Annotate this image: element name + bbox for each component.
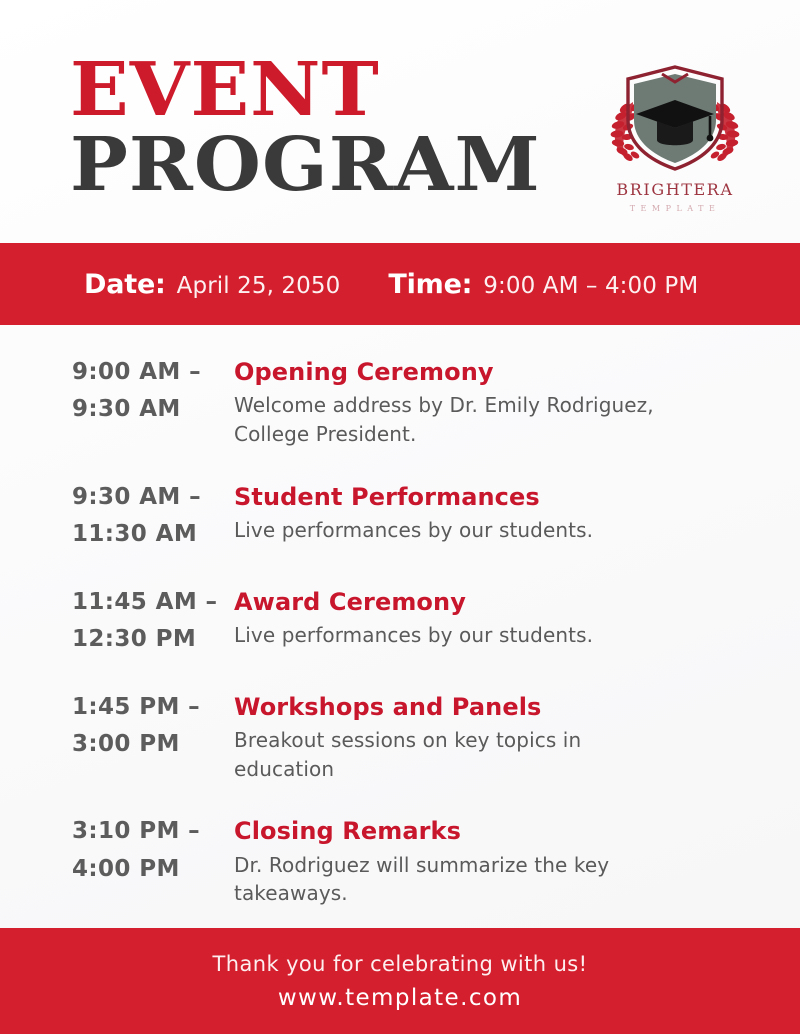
schedule-item-time: 3:10 PM – 4:00 PM <box>72 813 234 908</box>
brand-logo: BRIGHTERA TEMPLATE <box>600 62 750 222</box>
schedule-item: 9:30 AM – 11:30 AM Student Performances … <box>0 479 800 554</box>
event-program-poster: EVENT PROGRAM <box>0 0 800 1034</box>
schedule-item-body: Opening Ceremony Welcome address by Dr. … <box>234 354 740 449</box>
schedule-item-description: Live performances by our students. <box>234 516 654 545</box>
schedule-item-description: Breakout sessions on key topics in educa… <box>234 726 654 783</box>
schedule-item-body: Award Ceremony Live performances by our … <box>234 584 740 659</box>
title-line-event: EVENT <box>70 56 541 126</box>
end-time: 12:30 PM <box>72 621 222 658</box>
date-group: Date: April 25, 2050 <box>84 269 340 300</box>
start-time: 1:45 PM – <box>72 689 222 726</box>
footer-thanks-text: Thank you for celebrating with us! <box>213 952 588 976</box>
schedule-item-description: Welcome address by Dr. Emily Rodriguez, … <box>234 391 654 448</box>
title-line-program: PROGRAM <box>70 131 541 201</box>
date-label: Date: <box>84 269 166 300</box>
schedule-item-description: Dr. Rodriguez will summarize the key tak… <box>234 851 654 908</box>
page-title: EVENT PROGRAM <box>70 56 523 200</box>
end-time: 11:30 AM <box>72 516 222 553</box>
time-value: 9:00 AM – 4:00 PM <box>483 273 698 299</box>
schedule-item: 9:00 AM – 9:30 AM Opening Ceremony Welco… <box>0 354 800 449</box>
date-value: April 25, 2050 <box>177 273 341 299</box>
time-group: Time: 9:00 AM – 4:00 PM <box>388 269 698 300</box>
schedule-item: 1:45 PM – 3:00 PM Workshops and Panels B… <box>0 689 800 784</box>
graduation-cap-shield-laurel-icon <box>600 62 750 174</box>
date-time-bar: Date: April 25, 2050 Time: 9:00 AM – 4:0… <box>0 243 800 325</box>
schedule-item-body: Student Performances Live performances b… <box>234 479 740 554</box>
schedule-item: 11:45 AM – 12:30 PM Award Ceremony Live … <box>0 584 800 659</box>
poster-footer: Thank you for celebrating with us! www.t… <box>0 928 800 1034</box>
logo-brand-name: BRIGHTERA <box>600 180 750 199</box>
schedule-item-title: Workshops and Panels <box>234 689 740 726</box>
schedule-item-title: Closing Remarks <box>234 813 740 850</box>
end-time: 4:00 PM <box>72 851 222 888</box>
start-time: 9:30 AM – <box>72 479 222 516</box>
poster-header: EVENT PROGRAM <box>0 0 800 243</box>
footer-website-url[interactable]: www.template.com <box>278 985 522 1011</box>
start-time: 3:10 PM – <box>72 813 222 850</box>
schedule-item-title: Award Ceremony <box>234 584 740 621</box>
schedule-list: 9:00 AM – 9:30 AM Opening Ceremony Welco… <box>0 325 800 908</box>
start-time: 11:45 AM – <box>72 584 222 621</box>
schedule-item-body: Closing Remarks Dr. Rodriguez will summa… <box>234 813 740 908</box>
end-time: 9:30 AM <box>72 391 222 428</box>
logo-brand-subtitle: TEMPLATE <box>600 204 750 213</box>
end-time: 3:00 PM <box>72 726 222 763</box>
schedule-item-time: 11:45 AM – 12:30 PM <box>72 584 234 659</box>
schedule-item-time: 1:45 PM – 3:00 PM <box>72 689 234 784</box>
start-time: 9:00 AM – <box>72 354 222 391</box>
time-label: Time: <box>388 269 472 300</box>
schedule-item-time: 9:30 AM – 11:30 AM <box>72 479 234 554</box>
schedule-item-description: Live performances by our students. <box>234 621 654 650</box>
schedule-item-body: Workshops and Panels Breakout sessions o… <box>234 689 740 784</box>
schedule-item-title: Opening Ceremony <box>234 354 740 391</box>
schedule-item-time: 9:00 AM – 9:30 AM <box>72 354 234 449</box>
schedule-item: 3:10 PM – 4:00 PM Closing Remarks Dr. Ro… <box>0 813 800 908</box>
schedule-item-title: Student Performances <box>234 479 740 516</box>
